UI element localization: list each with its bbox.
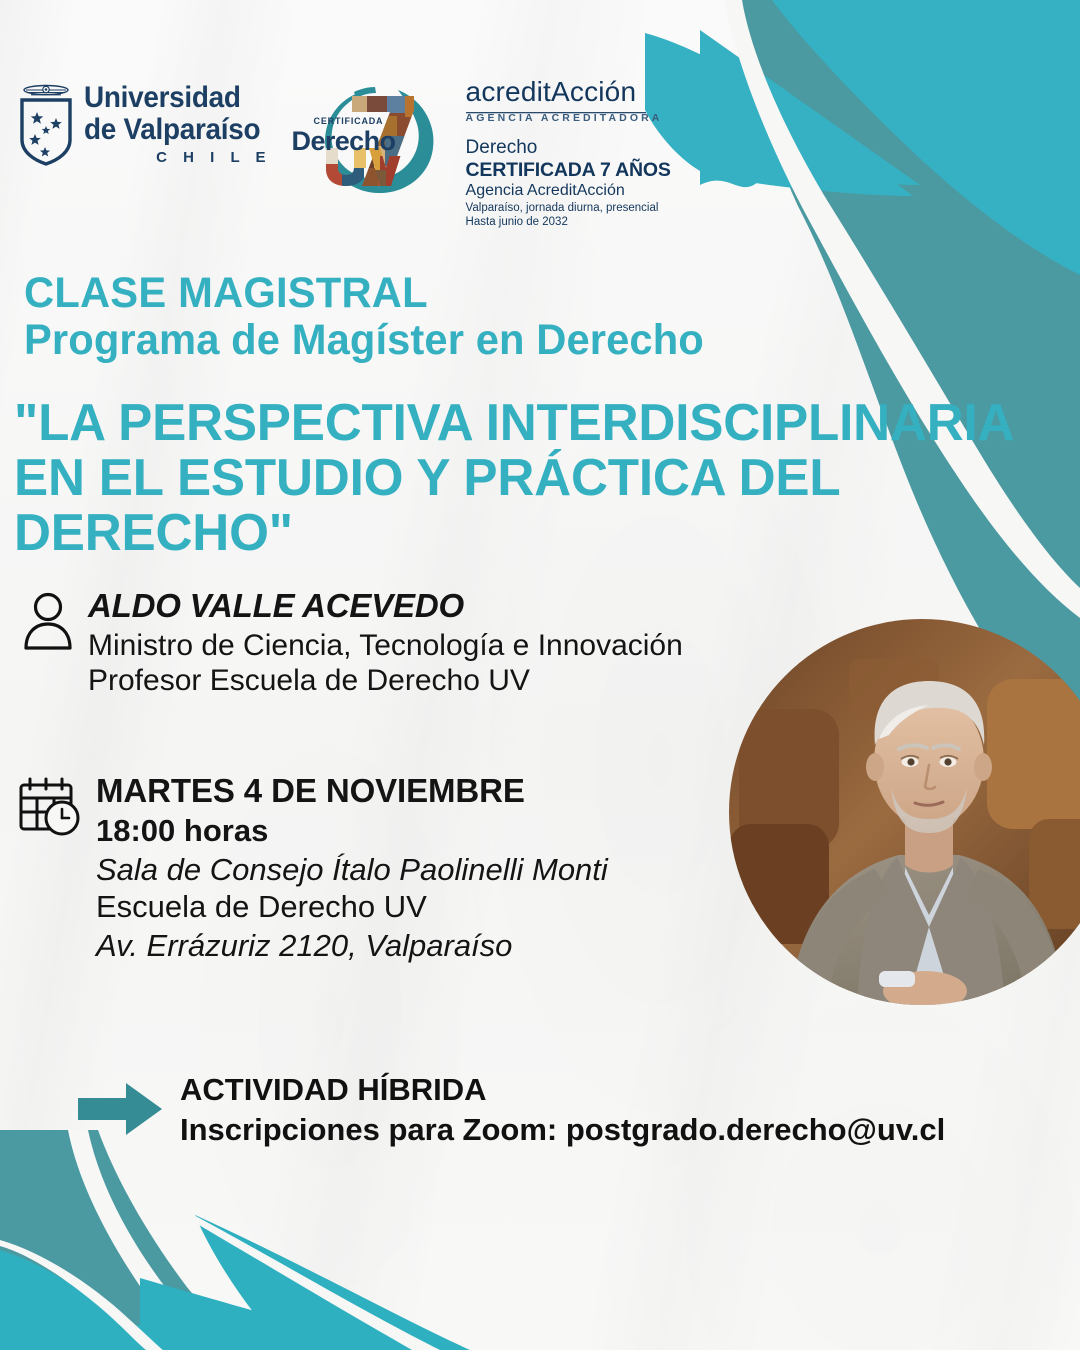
calendar-clock-icon	[18, 776, 82, 838]
event-date: MARTES 4 DE NOVIEMBRE	[96, 772, 608, 810]
uv-shield-icon	[18, 82, 74, 166]
uv-line-3: C H I L E	[84, 150, 274, 165]
event-school: Escuela de Derecho UV	[96, 889, 608, 924]
derecho-7-certificada-label: CERTIFICADA	[314, 116, 384, 126]
uv-wordmark: Universidad de Valparaíso C H I L E	[84, 83, 274, 165]
person-icon	[22, 592, 74, 650]
speaker-block: ALDO VALLE ACEVEDO Ministro de Ciencia, …	[22, 588, 683, 697]
universidad-de-valparaiso-logo: Universidad de Valparaíso C H I L E	[18, 82, 274, 166]
acc-modality: Valparaíso, jornada diurna, presencial	[466, 202, 671, 215]
event-time: 18:00 horas	[96, 813, 608, 848]
acreditaccion-details: Derecho CERTIFICADA 7 AÑOS Agencia Acred…	[466, 137, 671, 229]
registration-block: ACTIVIDAD HÍBRIDA Inscripciones para Zoo…	[78, 1072, 945, 1148]
speaker-name: ALDO VALLE ACEVEDO	[88, 588, 683, 625]
speaker-role-1: Ministro de Ciencia, Tecnología e Innova…	[88, 629, 683, 663]
derecho-uv-certificada-7-logo: CERTIFICADA Derecho	[290, 76, 440, 196]
activity-modality: ACTIVIDAD HÍBRIDA	[180, 1072, 945, 1108]
acreditaccion-logo: acreditAcción AGENCIA ACREDITADORA Derec…	[466, 78, 671, 229]
registration-text: ACTIVIDAD HÍBRIDA Inscripciones para Zoo…	[180, 1072, 945, 1148]
acreditaccion-wordmark: acreditAcción	[466, 78, 671, 106]
kicker-line-2: Programa de Magíster en Derecho	[24, 319, 704, 363]
speaker-text: ALDO VALLE ACEVEDO Ministro de Ciencia, …	[88, 588, 683, 697]
uv-line-1: Universidad	[84, 83, 260, 113]
acc-agency: Agencia AcreditAcción	[466, 182, 671, 201]
event-details-text: MARTES 4 DE NOVIEMBRE 18:00 horas Sala d…	[96, 772, 608, 963]
derecho-7-derecho-label: Derecho	[292, 126, 396, 157]
title-line-1: "LA PERSPECTIVA INTERDISCIPLINARIA	[14, 396, 1064, 451]
title-line-2: EN EL ESTUDIO Y PRÁCTICA DEL DERECHO"	[14, 451, 1064, 561]
page-title: "LA PERSPECTIVA INTERDISCIPLINARIA EN EL…	[14, 396, 1080, 561]
event-address: Av. Errázuriz 2120, Valparaíso	[96, 928, 608, 963]
acreditaccion-wordmark-text: acreditAcción	[466, 76, 637, 107]
acc-valid-until: Hasta junio de 2032	[466, 216, 671, 229]
acc-program: Derecho	[466, 137, 671, 159]
arrow-right-icon	[78, 1081, 162, 1137]
kicker-line-1: CLASE MAGISTRAL	[24, 272, 704, 316]
speaker-portrait	[729, 619, 1080, 1005]
acc-certification: CERTIFICADA 7 AÑOS	[466, 159, 671, 182]
uv-line-2: de Valparaíso	[84, 115, 260, 145]
acreditaccion-underline	[466, 112, 646, 114]
poster-canvas: Universidad de Valparaíso C H I L E	[0, 0, 1080, 1350]
speaker-role-2: Profesor Escuela de Derecho UV	[88, 664, 683, 698]
registration-contact[interactable]: Inscripciones para Zoom: postgrado.derec…	[180, 1112, 945, 1148]
event-room: Sala de Consejo Ítalo Paolinelli Monti	[96, 852, 608, 887]
speaker-portrait-art	[729, 619, 1080, 1005]
logo-row: Universidad de Valparaíso C H I L E	[18, 82, 671, 229]
event-kicker: CLASE MAGISTRAL Programa de Magíster en …	[24, 272, 725, 363]
event-details-block: MARTES 4 DE NOVIEMBRE 18:00 horas Sala d…	[18, 772, 608, 963]
